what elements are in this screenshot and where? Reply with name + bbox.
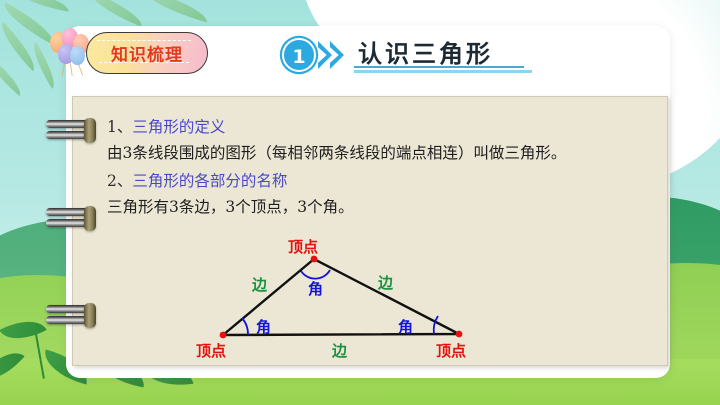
title-underline-thick [354, 70, 532, 73]
parts-body: 三角形有3条边，3个顶点，3个角。 [107, 195, 651, 217]
bottom-right-angle-arc [434, 316, 438, 334]
triangle-diagram: 顶点 顶点 顶点 边 边 边 角 角 角 [180, 228, 520, 368]
parts-heading-text: 三角形的各部分的名称 [132, 172, 287, 190]
spiral-ring-1 [46, 118, 98, 144]
side-label-right: 边 [378, 272, 393, 293]
spiral-ring-2 [46, 206, 98, 232]
vertex-dot-bottom-right [456, 331, 463, 338]
badge-label: 知识梳理 [87, 41, 207, 66]
angle-label-apex: 角 [308, 278, 323, 299]
vertex-dot-bottom-left [220, 332, 227, 339]
vertex-label-bottom-left: 顶点 [196, 340, 226, 361]
page-title: 认识三角形 [358, 34, 493, 69]
spiral-ring-3 [46, 303, 98, 329]
bottom-left-angle-arc [242, 318, 248, 335]
side-label-left: 边 [252, 274, 267, 295]
parts-heading: 2、三角形的各部分的名称 [107, 169, 651, 191]
title-number-badge: 1 [282, 38, 316, 72]
vertex-label-apex: 顶点 [288, 236, 318, 257]
definition-body: 由3条线段围成的图形（每相邻两条线段的端点相连）叫做三角形。 [107, 141, 651, 163]
triangle-svg [180, 228, 520, 368]
badge-pill-shape: 知识梳理 [86, 32, 208, 74]
title-underline-thin [354, 66, 524, 68]
section-badge[interactable]: 知识梳理 [40, 26, 210, 82]
side-label-bottom: 边 [332, 340, 347, 361]
parts-heading-prefix: 2、 [107, 172, 132, 190]
definition-heading-text: 三角形的定义 [132, 118, 225, 136]
vertex-label-bottom-right: 顶点 [436, 340, 466, 361]
slide-canvas: 知识梳理 1 认识三角形 1、三角形的定义 由3条线段围成的图形（每相邻两条线段… [0, 0, 720, 405]
angle-label-bottom-left: 角 [256, 316, 271, 337]
angle-label-bottom-right: 角 [398, 316, 413, 337]
definition-heading-prefix: 1、 [107, 118, 132, 136]
definition-heading: 1、三角形的定义 [107, 115, 651, 137]
